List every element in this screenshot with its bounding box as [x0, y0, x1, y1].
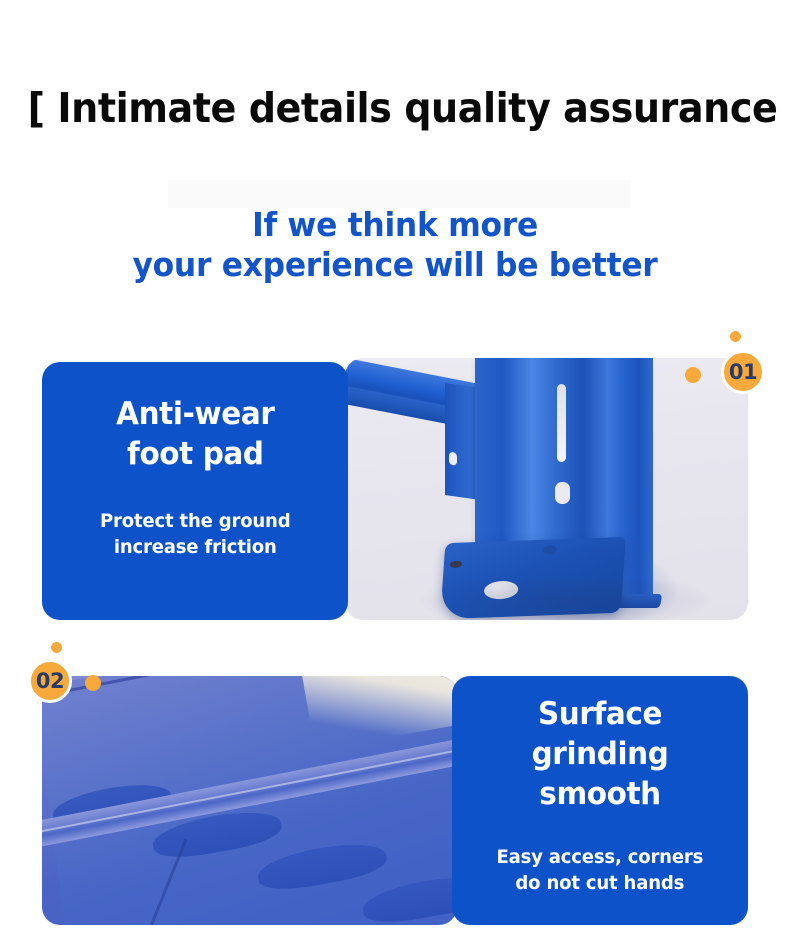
- card-two-title-line-3: smooth: [539, 776, 660, 812]
- card-two-subtitle-line-1: Easy access, corners: [497, 846, 704, 868]
- card-one-subtitle-line-2: increase friction: [114, 536, 277, 558]
- card-one-photo: [345, 358, 748, 620]
- card-one-title: Anti-wear foot pad: [116, 394, 274, 474]
- card-two-title-line-2: grinding: [532, 736, 669, 772]
- weld-nub: [543, 545, 558, 554]
- watermark-band: [168, 180, 630, 208]
- decorative-dot-small: [730, 331, 741, 342]
- card-one-subtitle-line-1: Protect the ground: [100, 510, 290, 532]
- card-two-photo: [42, 676, 457, 925]
- upright-slot: [557, 384, 566, 462]
- decorative-dot-medium: [685, 367, 701, 383]
- card-two-subtitle: Easy access, corners do not cut hands: [497, 844, 704, 896]
- subheadline-line-2: your experience will be better: [20, 245, 771, 285]
- page-subheadline: If we think more your experience will be…: [20, 205, 771, 285]
- card-two-number-badge: 02: [28, 659, 72, 703]
- card-one-text-panel: Anti-wear foot pad Protect the ground in…: [42, 362, 348, 620]
- card-one-title-line-2: foot pad: [127, 436, 264, 472]
- upright-hole: [449, 452, 457, 466]
- card-two-title: Surface grinding smooth: [532, 694, 669, 814]
- upright-hole: [555, 482, 570, 504]
- card-one-title-line-1: Anti-wear: [116, 396, 274, 432]
- card-two-subtitle-line-2: do not cut hands: [516, 872, 685, 894]
- page-headline: [ Intimate details quality assurance ]: [28, 88, 763, 129]
- card-one-subtitle: Protect the ground increase friction: [100, 508, 290, 560]
- weld-nub: [450, 561, 463, 568]
- product-detail-page: [ Intimate details quality assurance ] I…: [0, 0, 790, 942]
- card-two-text-panel: Surface grinding smooth Easy access, cor…: [452, 676, 748, 925]
- card-two-title-line-1: Surface: [538, 696, 662, 732]
- decorative-dot-small: [51, 642, 62, 653]
- card-one-number-badge: 01: [721, 350, 765, 394]
- subheadline-line-1: If we think more: [20, 205, 771, 245]
- decorative-dot-medium: [85, 675, 101, 691]
- floor-shadow: [415, 580, 715, 620]
